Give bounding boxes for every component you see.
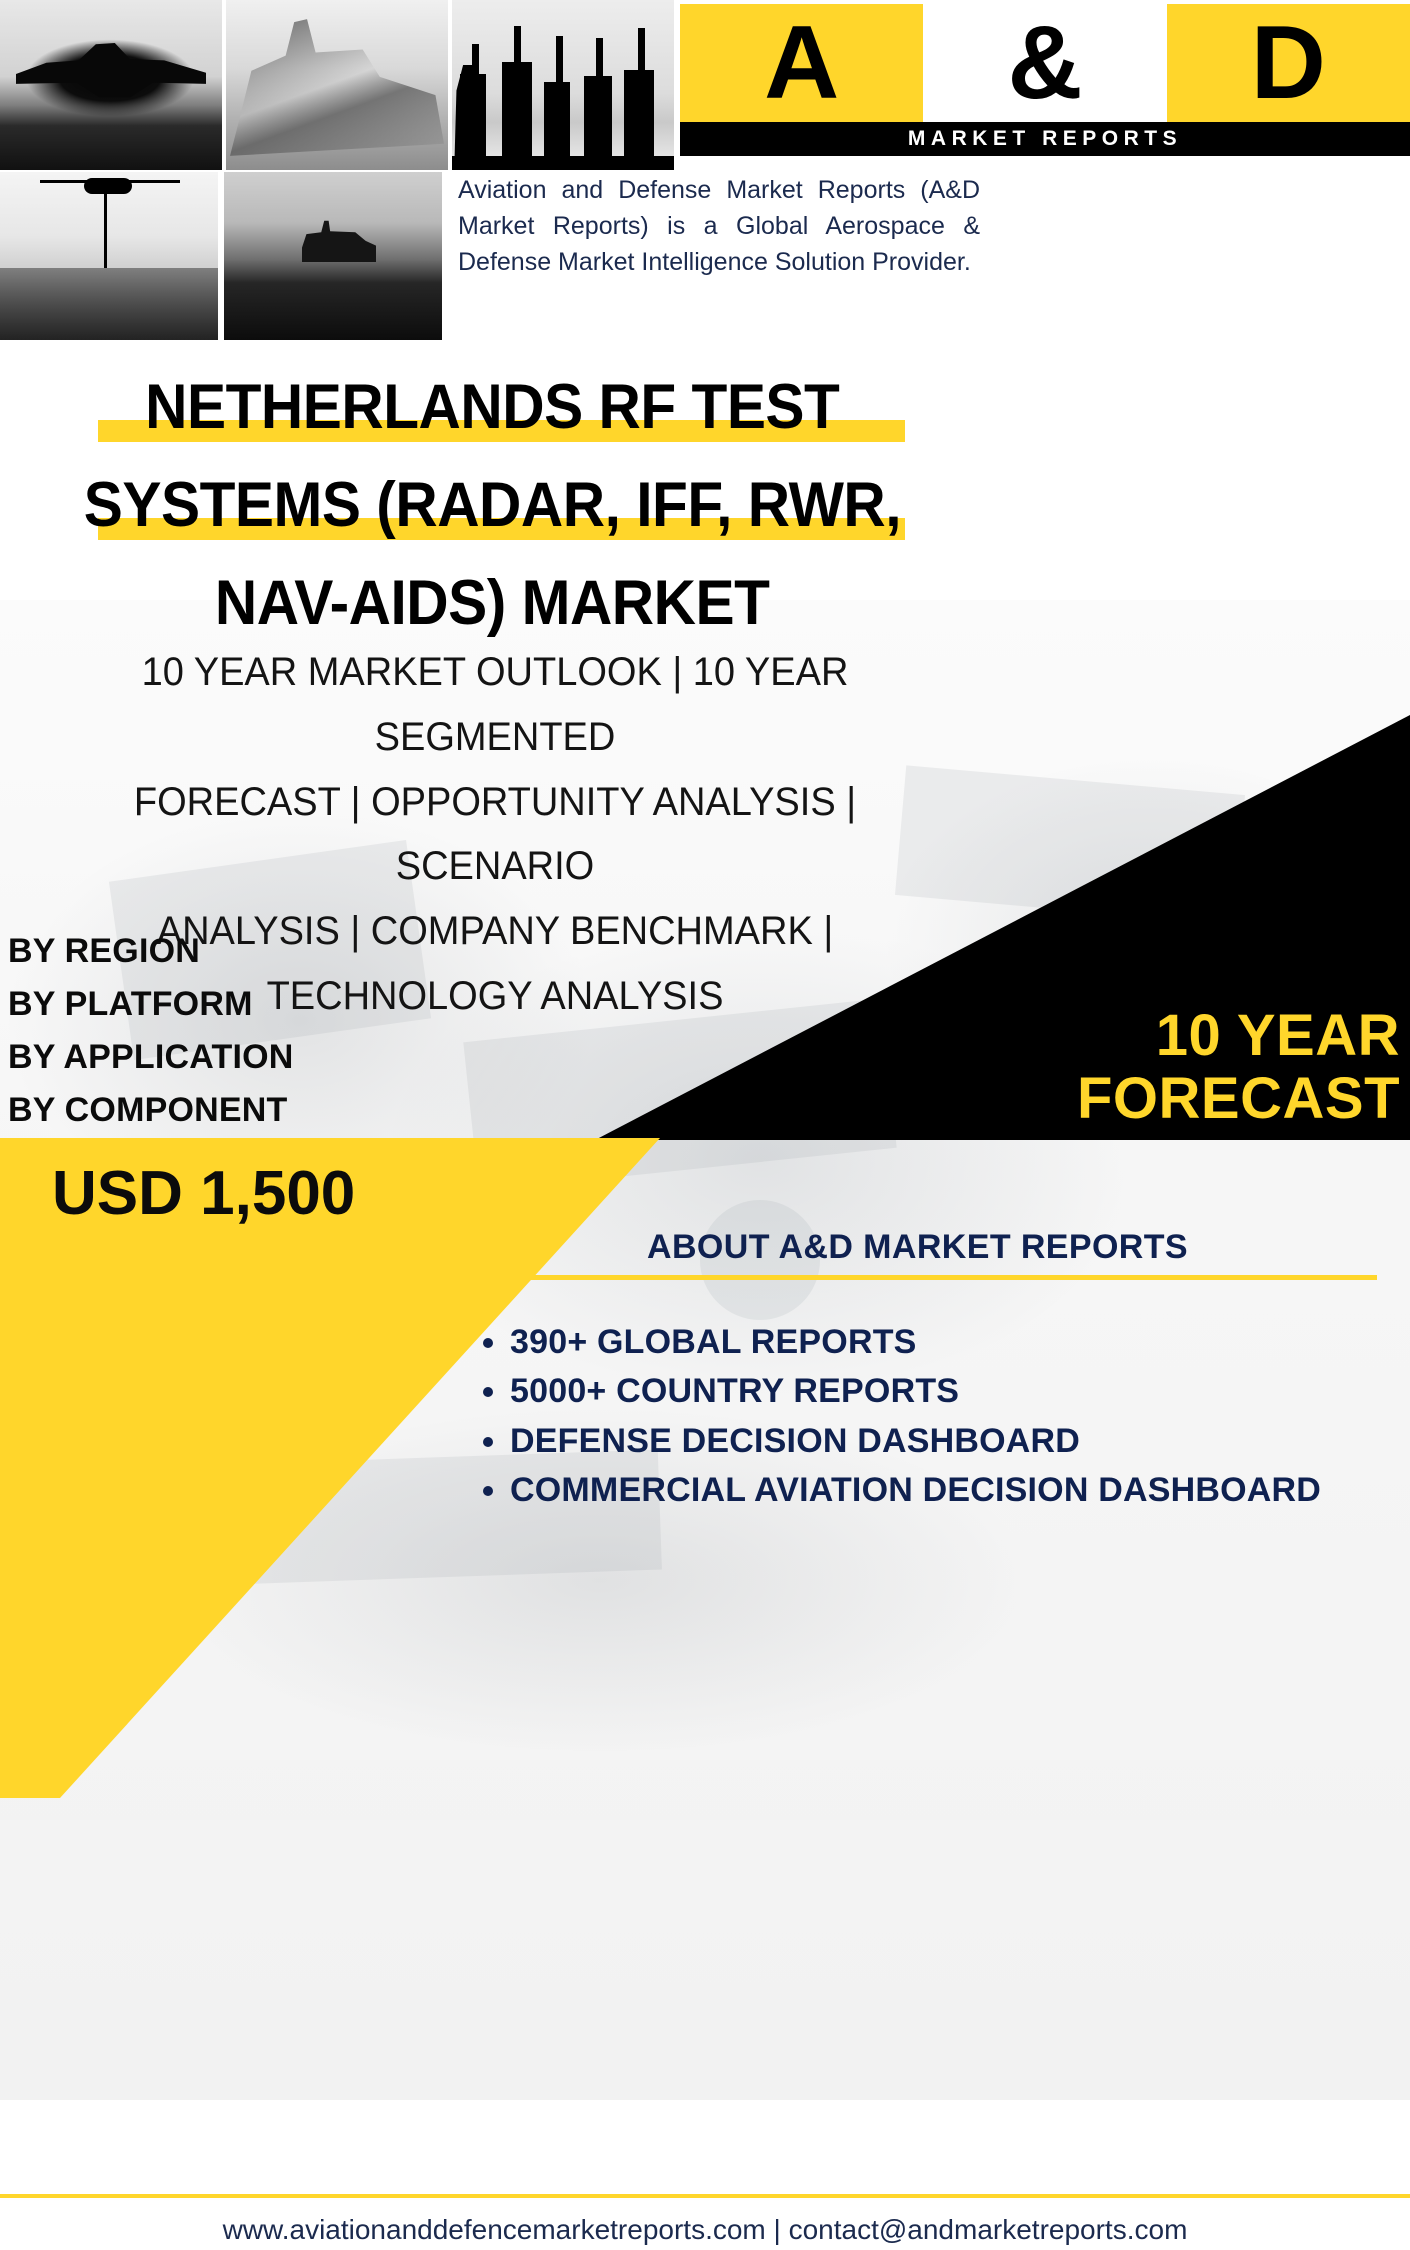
soldiers-silhouette-photo [452, 0, 674, 170]
forecast-badge: 10 YEAR FORECAST [880, 1005, 1400, 1130]
footer-contact: www.aviationanddefencemarketreports.com … [0, 2214, 1410, 2246]
subtitle-line-1: 10 YEAR MARKET OUTLOOK | 10 YEAR SEGMENT… [44, 640, 947, 770]
aircraft-carrier-photo [226, 0, 448, 170]
logo-letter-blocks: A & D [680, 4, 1410, 122]
about-list-item: 390+ GLOBAL REPORTS [510, 1322, 1385, 1363]
logo-letter-ampersand: & [1007, 11, 1082, 115]
about-list-item: DEFENSE DECISION DASHBOARD [510, 1421, 1385, 1462]
segment-item-component: BY COMPONENT [8, 1084, 294, 1137]
segmentation-list: BY REGION BY PLATFORM BY APPLICATION BY … [8, 925, 294, 1137]
photo-strip-top [0, 0, 676, 170]
logo-letter-d: D [1251, 11, 1326, 115]
fighter-jet-photo [0, 0, 222, 170]
logo-subtitle-text: MARKET REPORTS [908, 127, 1182, 151]
company-description: Aviation and Defense Market Reports (A&D… [458, 172, 980, 280]
logo-letter-a: A [764, 11, 839, 115]
title-text-1: NETHERLANDS RF TEST [145, 358, 839, 456]
armored-vehicle-photo [224, 172, 442, 340]
title-line-2: SYSTEMS (RADAR, IFF, RWR, [0, 456, 985, 554]
price-label: USD 1,500 [52, 1158, 355, 1229]
brand-logo: A & D MARKET REPORTS [680, 0, 1410, 172]
about-list-item: COMMERCIAL AVIATION DECISION DASHBOARD [510, 1470, 1385, 1511]
title-text-2: SYSTEMS (RADAR, IFF, RWR, [84, 456, 901, 554]
forecast-badge-line-1: 10 YEAR [880, 1005, 1400, 1068]
subtitle-line-2: FORECAST | OPPORTUNITY ANALYSIS | SCENAR… [44, 770, 947, 900]
segment-item-region: BY REGION [8, 925, 294, 978]
helicopter-troops-photo [0, 172, 218, 340]
segment-item-application: BY APPLICATION [8, 1031, 294, 1084]
logo-block-d: D [1167, 4, 1410, 122]
title-line-3: NAV-AIDS) MARKET [0, 554, 985, 652]
about-list-item: 5000+ COUNTRY REPORTS [510, 1371, 1385, 1412]
logo-subtitle-bar: MARKET REPORTS [680, 122, 1410, 156]
about-section: ABOUT A&D MARKET REPORTS 390+ GLOBAL REP… [450, 1228, 1385, 1520]
title-line-1: NETHERLANDS RF TEST [0, 358, 985, 456]
about-heading-underline [458, 1275, 1377, 1280]
segment-item-platform: BY PLATFORM [8, 978, 294, 1031]
logo-block-ampersand: & [923, 4, 1166, 122]
about-bullet-list: 390+ GLOBAL REPORTS 5000+ COUNTRY REPORT… [450, 1322, 1385, 1512]
title-text-3: NAV-AIDS) MARKET [215, 554, 770, 652]
forecast-badge-line-2: FORECAST [880, 1068, 1400, 1131]
logo-block-a: A [680, 4, 923, 122]
about-heading: ABOUT A&D MARKET REPORTS [450, 1228, 1385, 1267]
photo-strip-second [0, 172, 442, 340]
page-title: NETHERLANDS RF TEST SYSTEMS (RADAR, IFF,… [0, 358, 985, 652]
footer-divider [0, 2194, 1410, 2198]
